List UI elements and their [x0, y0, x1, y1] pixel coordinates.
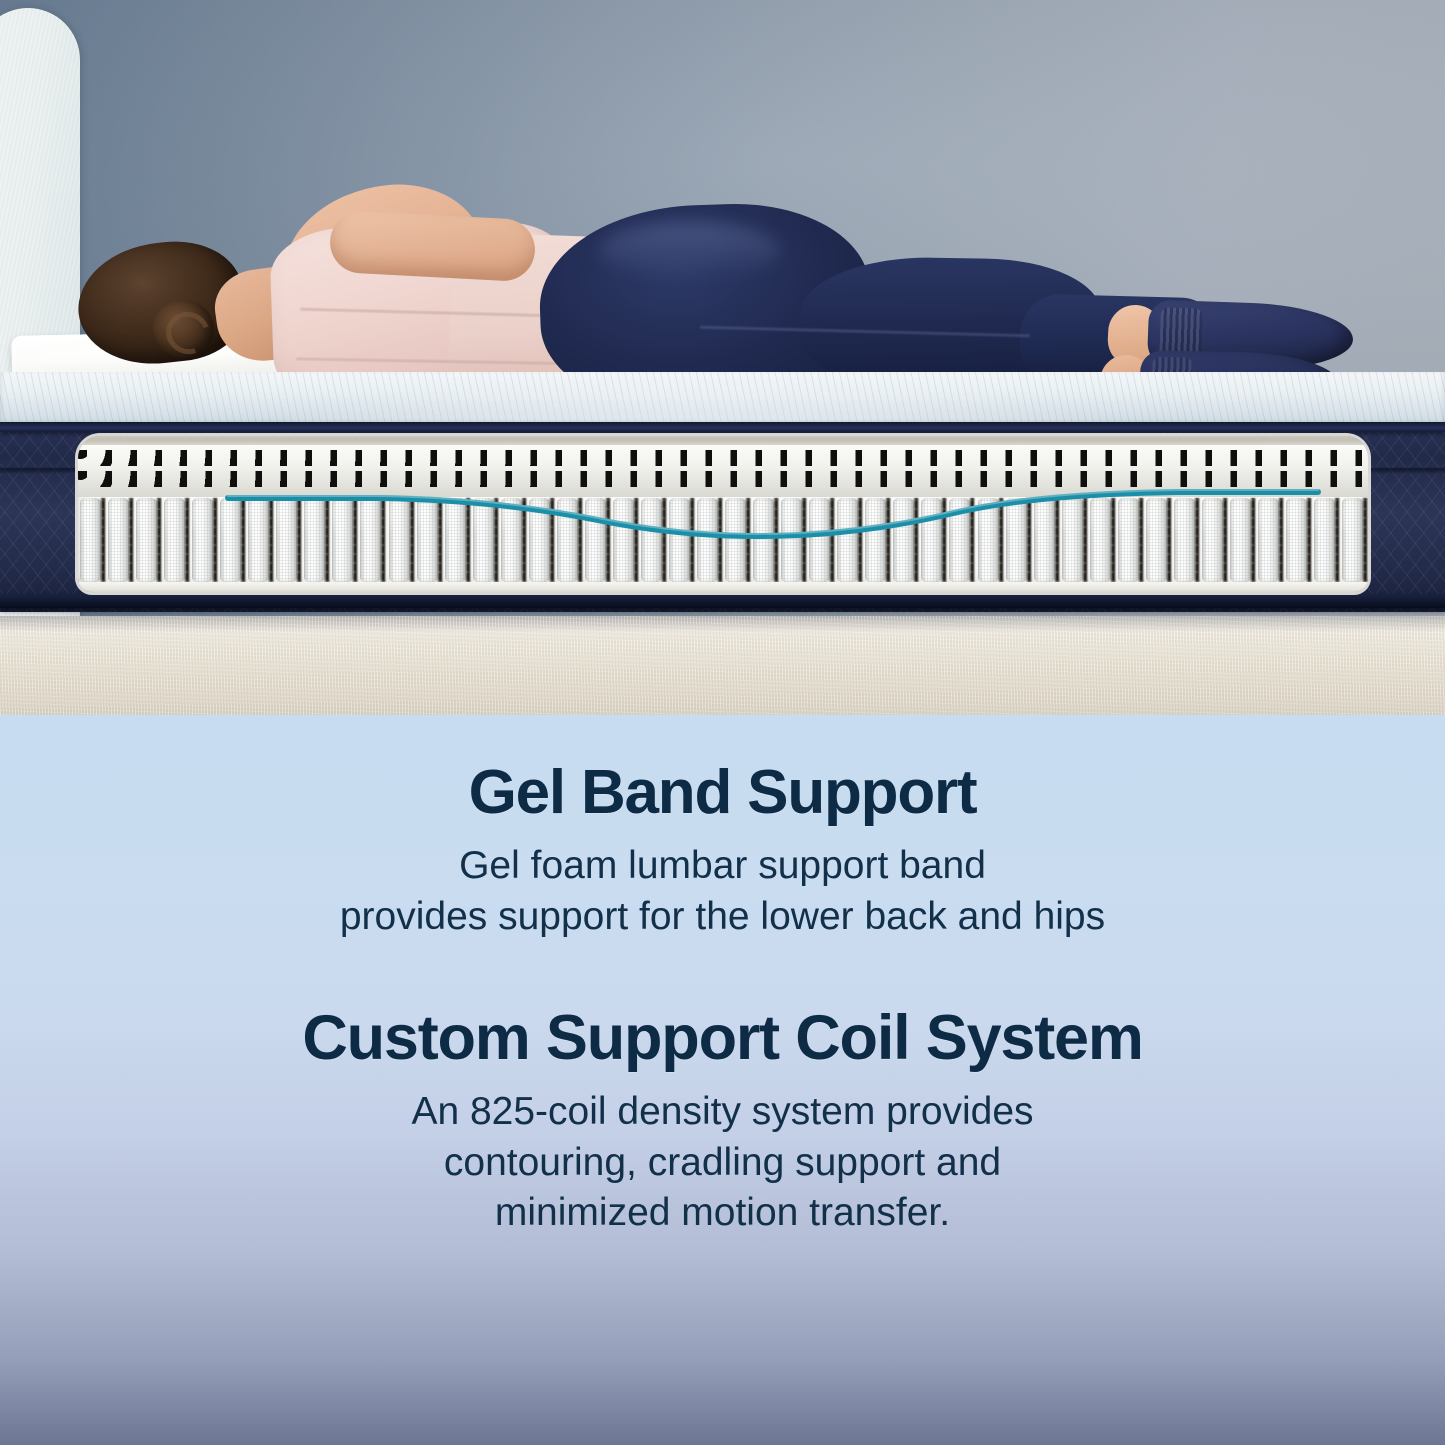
- feature-body-line: Gel foam lumbar support band: [340, 841, 1105, 892]
- upper-arm: [329, 210, 537, 283]
- feature-body-line: minimized motion transfer.: [411, 1188, 1033, 1239]
- mattress-piping-top: [0, 422, 1445, 432]
- feature-body-line: An 825-coil density system provides: [411, 1087, 1033, 1138]
- feature-heading-coil-system: Custom Support Coil System: [302, 1006, 1142, 1071]
- feature-body-gel-band: Gel foam lumbar support band provides su…: [340, 841, 1105, 942]
- hip-highlight: [600, 222, 780, 280]
- gel-band-line: [78, 436, 1368, 592]
- feature-heading-gel-band: Gel Band Support: [469, 761, 977, 825]
- mattress-lifestyle-photo: [0, 0, 1445, 715]
- mattress-foundation: [0, 616, 1445, 715]
- feature-body-coil-system: An 825-coil density system provides cont…: [411, 1087, 1033, 1239]
- mattress-cutaway: [78, 436, 1368, 592]
- mattress-piping-bottom: [0, 594, 1445, 608]
- foundation-texture: [0, 616, 1445, 715]
- product-feature-graphic: Gel Band Support Gel foam lumbar support…: [0, 0, 1445, 1445]
- feature-body-line: provides support for the lower back and …: [340, 892, 1105, 943]
- mattress: [0, 372, 1445, 620]
- feature-text-panel: Gel Band Support Gel foam lumbar support…: [0, 715, 1445, 1445]
- feature-body-line: contouring, cradling support and: [411, 1138, 1033, 1189]
